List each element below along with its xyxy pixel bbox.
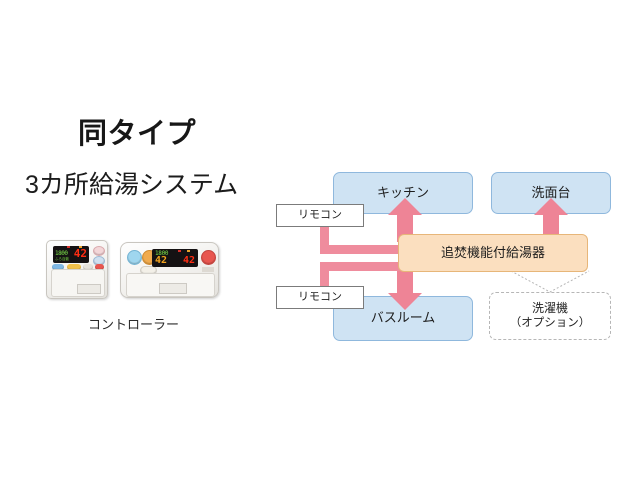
remote-wide-label bbox=[159, 283, 187, 294]
box-bathroom-label: バスルーム bbox=[371, 310, 436, 326]
remote-small-cover-panel bbox=[51, 269, 105, 297]
box-washing-machine-label: 洗濯機 bbox=[532, 301, 568, 316]
remote-wide-cover-panel bbox=[126, 273, 215, 297]
box-water-heater[interactable]: 追焚機能付給湯器 bbox=[398, 234, 588, 272]
remote-small-label bbox=[77, 284, 101, 294]
remote-small-display-sub: ふろ自動 bbox=[55, 257, 69, 262]
display-indicator-red-icon bbox=[178, 250, 181, 252]
page-title: 同タイプ bbox=[78, 110, 196, 152]
remote-small-display-temp: 42 bbox=[74, 248, 87, 259]
pipe-horizontal-bottom bbox=[320, 262, 402, 271]
page-subtitle: 3カ所給湯システム bbox=[25, 165, 238, 201]
controller-photos: 1800 ふろ自動 42 1800 42 bbox=[36, 238, 256, 300]
remote-wide-side-label bbox=[202, 267, 214, 272]
slide-canvas: 同タイプ 3カ所給湯システム 1800 ふろ自動 42 bbox=[0, 0, 640, 480]
display-indicator-red-icon bbox=[67, 246, 70, 248]
box-remote-bottom[interactable]: リモコン bbox=[276, 286, 364, 309]
remote-controller-wide: 1800 42 42 bbox=[120, 242, 219, 298]
box-water-heater-label: 追焚機能付給湯器 bbox=[441, 245, 545, 261]
controller-caption: コントローラー bbox=[88, 314, 179, 333]
box-remote-top-label: リモコン bbox=[298, 209, 342, 223]
speaker-button-icon bbox=[127, 250, 142, 265]
remote-wide-display-temp-right: 42 bbox=[183, 256, 195, 266]
remote-small-display-main: 1800 bbox=[55, 250, 67, 257]
remote-small-display: 1800 ふろ自動 42 bbox=[53, 246, 89, 263]
box-washing-machine-option-note: （オプション） bbox=[510, 316, 591, 330]
remote-wide-display-temp-left: 42 bbox=[155, 256, 167, 266]
display-indicator-orange-icon bbox=[187, 250, 190, 252]
box-remote-top[interactable]: リモコン bbox=[276, 204, 364, 227]
power-button-wide-icon bbox=[201, 250, 216, 265]
pipe-horizontal-top bbox=[320, 245, 402, 254]
box-remote-bottom-label: リモコン bbox=[298, 291, 342, 305]
dashed-connector-washer bbox=[489, 270, 611, 294]
box-washing-machine-optional[interactable]: 洗濯機 （オプション） bbox=[489, 292, 611, 340]
remote-wide-display: 1800 42 42 bbox=[152, 249, 198, 267]
system-diagram: キッチン 洗面台 バスルーム 洗濯機 （オプション） 追焚機能付給湯器 リモコン… bbox=[276, 164, 628, 350]
remote-controller-small: 1800 ふろ自動 42 bbox=[46, 240, 108, 299]
up-button-icon bbox=[93, 246, 105, 256]
